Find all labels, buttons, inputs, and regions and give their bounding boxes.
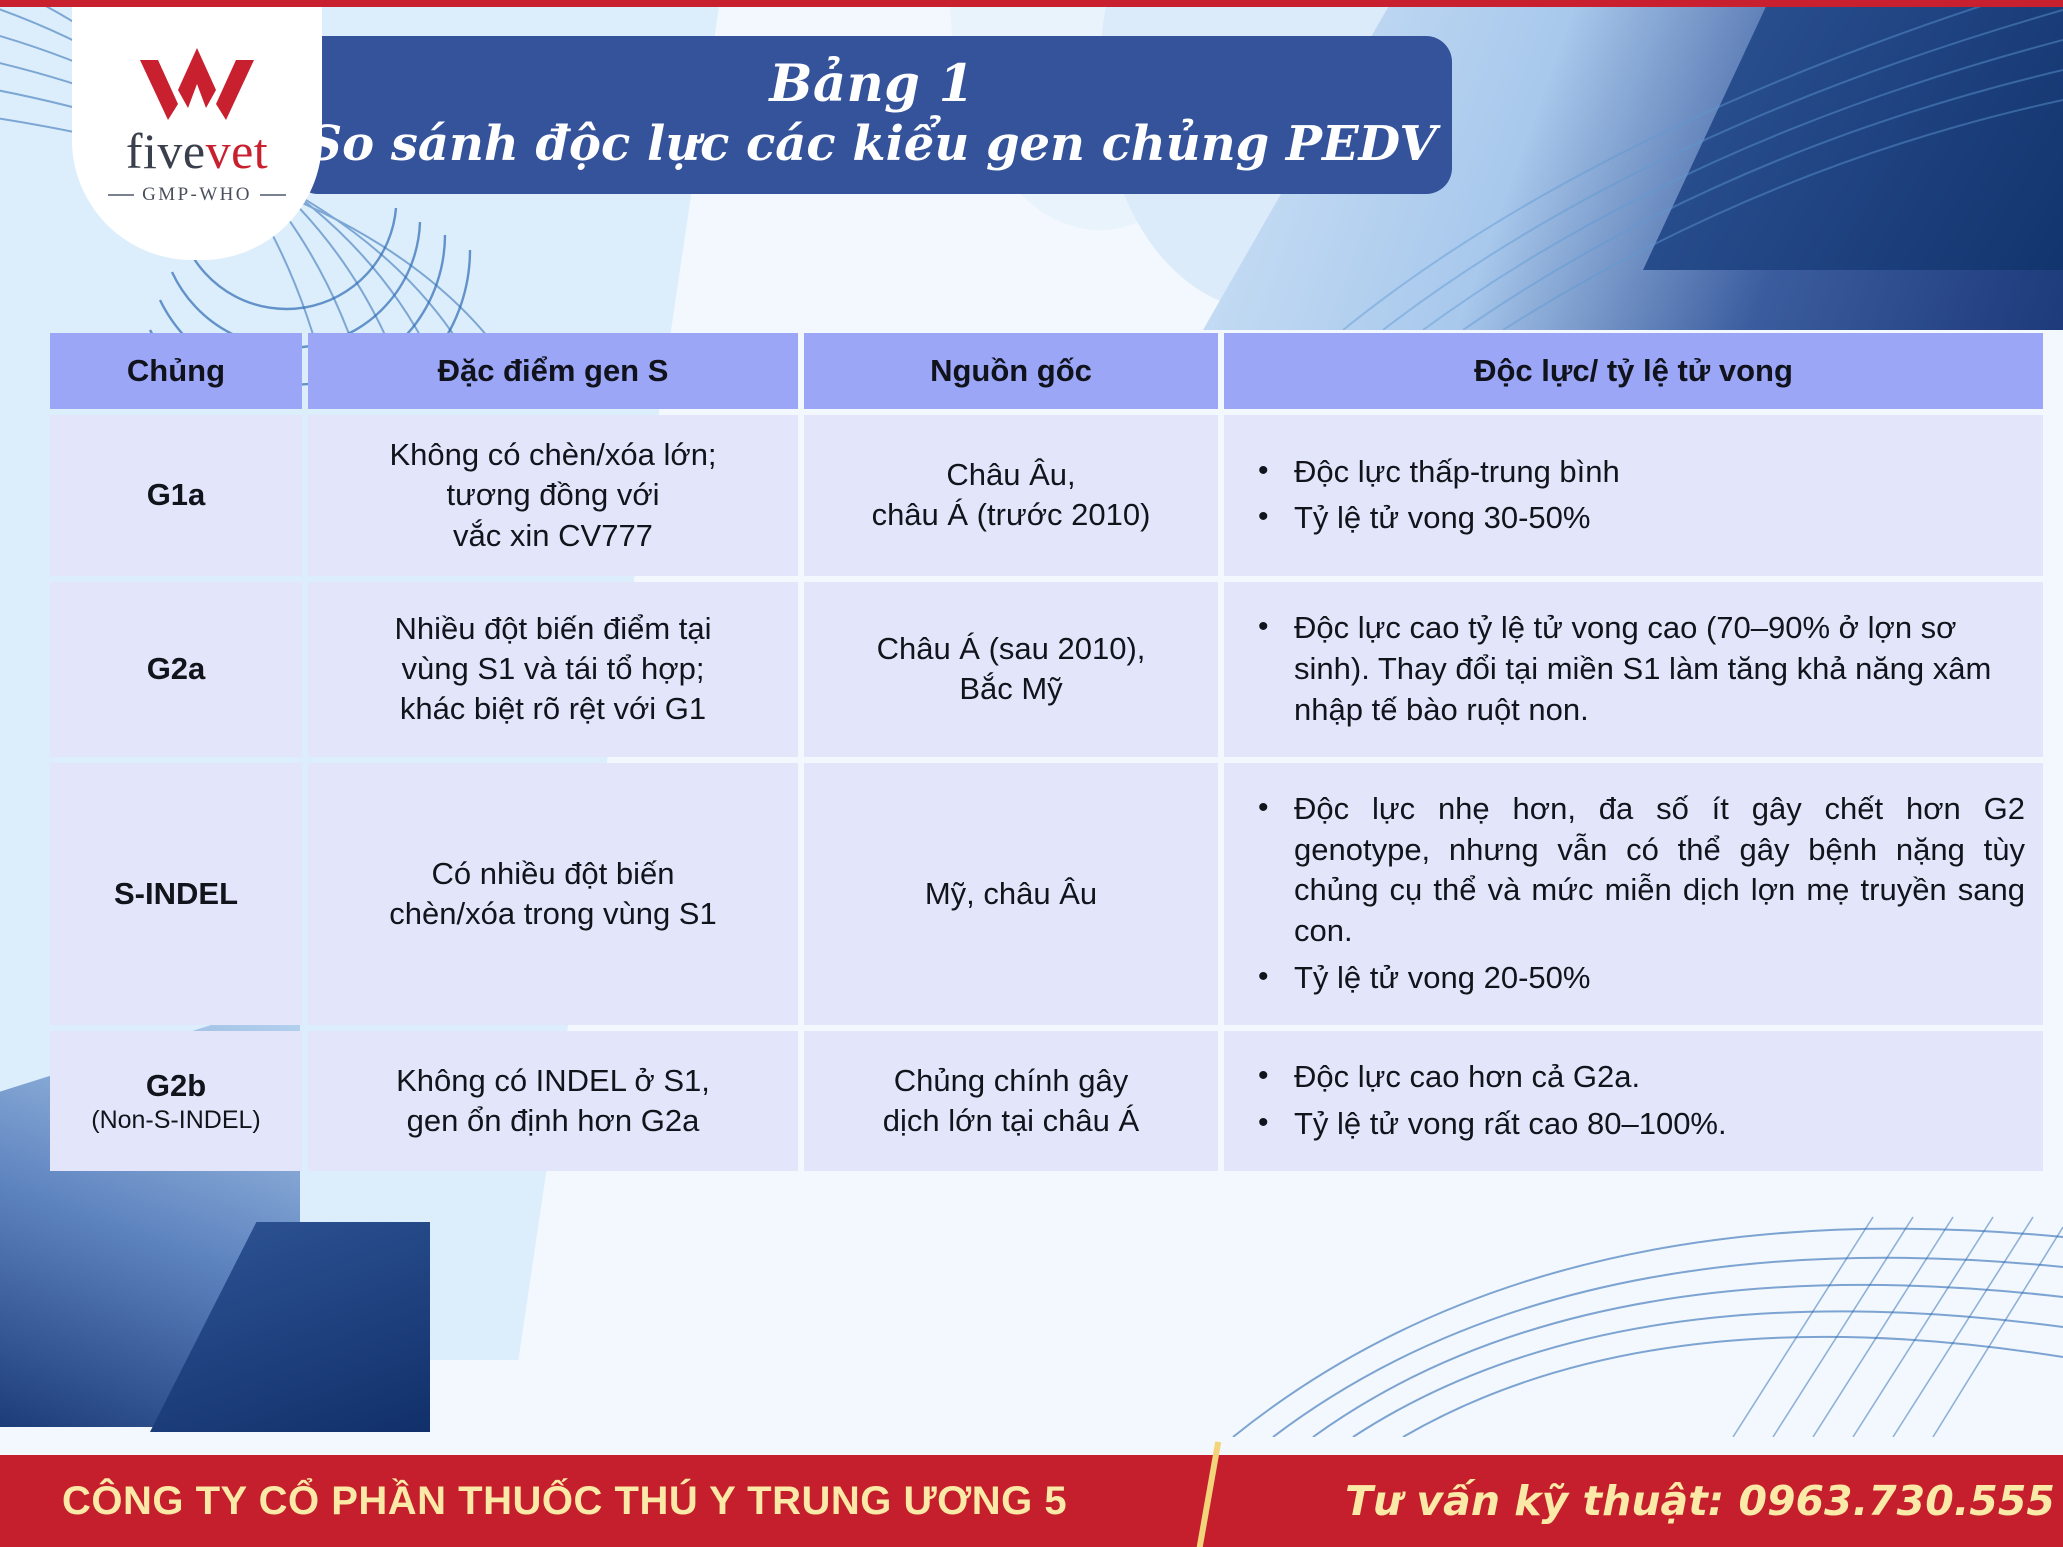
logo-cert-text: GMP-WHO — [142, 184, 252, 206]
footer-contact: Tư vấn kỹ thuật: 0963.730.555 — [1345, 1477, 2055, 1525]
column-header-strain: Chủng — [50, 333, 302, 409]
cell-origin: Châu Âu,châu Á (trước 2010) — [804, 415, 1218, 576]
bg-fan-lines-icon — [1113, 1197, 2063, 1437]
virulence-bullet: Độc lực nhẹ hơn, đa số ít gây chết hơn G… — [1294, 789, 2025, 953]
virulence-list: Độc lực thấp-trung bìnhTỷ lệ tử vong 30-… — [1242, 452, 2025, 540]
logo-word-vet: vet — [206, 123, 269, 179]
bg-right-dark-wedge — [1643, 0, 2063, 270]
cell-virulence: Độc lực cao tỷ lệ tử vong cao (70–90% ở … — [1224, 582, 2043, 757]
table-body: G1aKhông có chèn/xóa lớn;tương đồng vớiv… — [50, 415, 2043, 1171]
footer-divider-icon — [1195, 1441, 1221, 1547]
virulence-bullet: Độc lực cao tỷ lệ tử vong cao (70–90% ở … — [1294, 608, 2025, 731]
virulence-bullet: Tỷ lệ tử vong 20-50% — [1294, 958, 2025, 999]
cell-strain: S-INDEL — [50, 763, 302, 1026]
page-title: Bảng 1 — [769, 58, 974, 112]
logo-word-five: five — [126, 123, 206, 179]
table-header-row: Chủng Đặc điểm gen S Nguồn gốc Độc lực/ … — [50, 333, 2043, 409]
cell-virulence: Độc lực thấp-trung bìnhTỷ lệ tử vong 30-… — [1224, 415, 2043, 576]
virulence-bullet: Độc lực cao hơn cả G2a. — [1294, 1057, 2025, 1098]
footer-company-name: CÔNG TY CỔ PHẦN THUỐC THÚ Y TRUNG ƯƠNG 5 — [62, 1479, 1067, 1524]
virulence-bullet: Tỷ lệ tử vong 30-50% — [1294, 498, 2025, 539]
virulence-bullet: Độc lực thấp-trung bình — [1294, 452, 2025, 493]
infographic-page: fivevet GMP-WHO Bảng 1 So sánh độc lực c… — [0, 0, 2063, 1547]
cell-gene-feature: Không có INDEL ở S1,gen ổn định hơn G2a — [308, 1031, 798, 1171]
column-header-gene: Đặc điểm gen S — [308, 333, 798, 409]
cell-strain: G1a — [50, 415, 302, 576]
cell-gene-feature: Nhiều đột biến điểm tạivùng S1 và tái tổ… — [308, 582, 798, 757]
page-subtitle: So sánh độc lực các kiểu gen chủng PEDV — [307, 117, 1436, 172]
footer-bar: CÔNG TY CỔ PHẦN THUỐC THÚ Y TRUNG ƯƠNG 5… — [0, 1455, 2063, 1547]
brand-logo: fivevet GMP-WHO — [72, 0, 322, 260]
cell-origin: Châu Á (sau 2010),Bắc Mỹ — [804, 582, 1218, 757]
cell-strain: G2b(Non-S-INDEL) — [50, 1031, 302, 1171]
table-row: G2aNhiều đột biến điểm tạivùng S1 và tái… — [50, 582, 2043, 757]
title-banner: Bảng 1 So sánh độc lực các kiểu gen chủn… — [292, 36, 1452, 194]
cell-gene-feature: Có nhiều đột biếnchèn/xóa trong vùng S1 — [308, 763, 798, 1026]
cell-origin: Mỹ, châu Âu — [804, 763, 1218, 1026]
pedv-genotype-table: Chủng Đặc điểm gen S Nguồn gốc Độc lực/ … — [44, 327, 2049, 1177]
virulence-list: Độc lực cao tỷ lệ tử vong cao (70–90% ở … — [1242, 608, 2025, 731]
cell-strain-subtitle: (Non-S-INDEL) — [68, 1106, 284, 1135]
table-row: S-INDELCó nhiều đột biếnchèn/xóa trong v… — [50, 763, 2043, 1026]
logo-certification: GMP-WHO — [108, 184, 286, 206]
cell-strain: G2a — [50, 582, 302, 757]
logo-rule-right-icon — [260, 194, 286, 196]
top-accent-strip — [0, 0, 2063, 7]
comparison-table-wrapper: Chủng Đặc điểm gen S Nguồn gốc Độc lực/ … — [44, 327, 2019, 1177]
cell-virulence: Độc lực nhẹ hơn, đa số ít gây chết hơn G… — [1224, 763, 2043, 1026]
virulence-bullet: Tỷ lệ tử vong rất cao 80–100%. — [1294, 1104, 2025, 1145]
bg-bottom-left-wedge — [150, 1222, 430, 1432]
cell-virulence: Độc lực cao hơn cả G2a.Tỷ lệ tử vong rất… — [1224, 1031, 2043, 1171]
logo-rule-left-icon — [108, 194, 134, 196]
virulence-list: Độc lực cao hơn cả G2a.Tỷ lệ tử vong rất… — [1242, 1057, 2025, 1145]
chevron-w-mark-icon — [138, 48, 256, 120]
cell-origin: Chủng chính gâydịch lớn tại châu Á — [804, 1031, 1218, 1171]
table-row: G1aKhông có chèn/xóa lớn;tương đồng vớiv… — [50, 415, 2043, 576]
cell-gene-feature: Không có chèn/xóa lớn;tương đồng vớivắc … — [308, 415, 798, 576]
column-header-origin: Nguồn gốc — [804, 333, 1218, 409]
column-header-virulence: Độc lực/ tỷ lệ tử vong — [1224, 333, 2043, 409]
virulence-list: Độc lực nhẹ hơn, đa số ít gây chết hơn G… — [1242, 789, 2025, 1000]
table-row: G2b(Non-S-INDEL)Không có INDEL ở S1,gen … — [50, 1031, 2043, 1171]
logo-wordmark: fivevet — [126, 126, 268, 176]
